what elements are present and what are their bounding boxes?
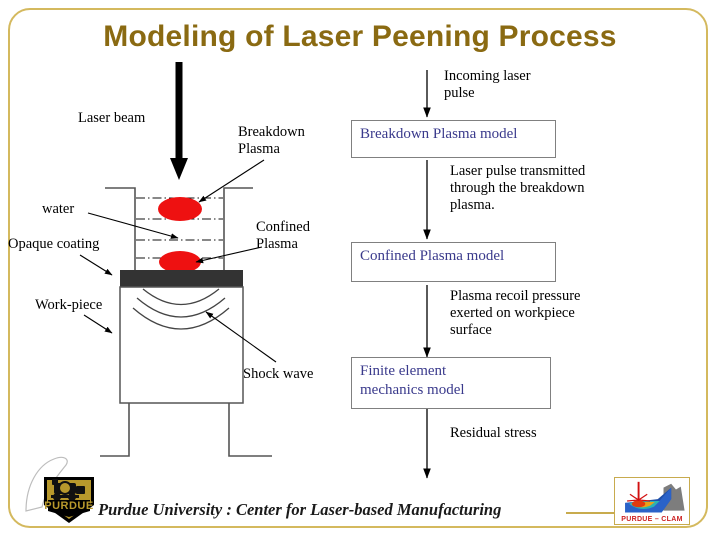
breakdown-plasma-ellipse [158,197,202,221]
slide-canvas: Modeling of Laser Peening Process [0,0,720,540]
label-water: water [42,201,74,218]
flow-label-laser-pulse-transmitted: Laser pulse transmitted through the brea… [450,163,585,214]
purdue-clam-logo: PURDUE – CLAM [614,477,690,525]
purdue-train-shield-logo: PURDUE [24,455,100,527]
label-work-piece: Work-piece [35,297,102,314]
opaque-coating-bar [120,270,243,287]
fixture-support [100,403,272,456]
flow-label-incoming-laser-pulse: Incoming laser pulse [444,68,531,102]
clam-logo-caption: PURDUE – CLAM [615,516,689,523]
flow-box-confined-plasma-model[interactable]: Confined Plasma model [351,242,556,282]
label-shock-wave: Shock wave [243,366,313,383]
flow-label-plasma-recoil-pressure: Plasma recoil pressure exerted on workpi… [450,288,580,339]
footer-caption: Purdue University : Center for Laser-bas… [98,500,501,520]
flow-label-residual-stress: Residual stress [450,425,537,442]
svg-text:PURDUE: PURDUE [44,500,93,512]
flow-box-finite-element-mechanics-model[interactable]: Finite element mechanics model [351,357,551,409]
label-laser-beam: Laser beam [78,110,145,127]
label-opaque-coating: Opaque coating [8,236,99,253]
flow-box-breakdown-plasma-model[interactable]: Breakdown Plasma model [351,120,556,158]
confined-plasma-ellipse [159,251,201,273]
footer-rule [566,512,614,514]
laser-beam-arrow [170,62,188,180]
label-confined-plasma: Confined Plasma [256,219,310,253]
label-breakdown-plasma: Breakdown Plasma [238,124,305,158]
